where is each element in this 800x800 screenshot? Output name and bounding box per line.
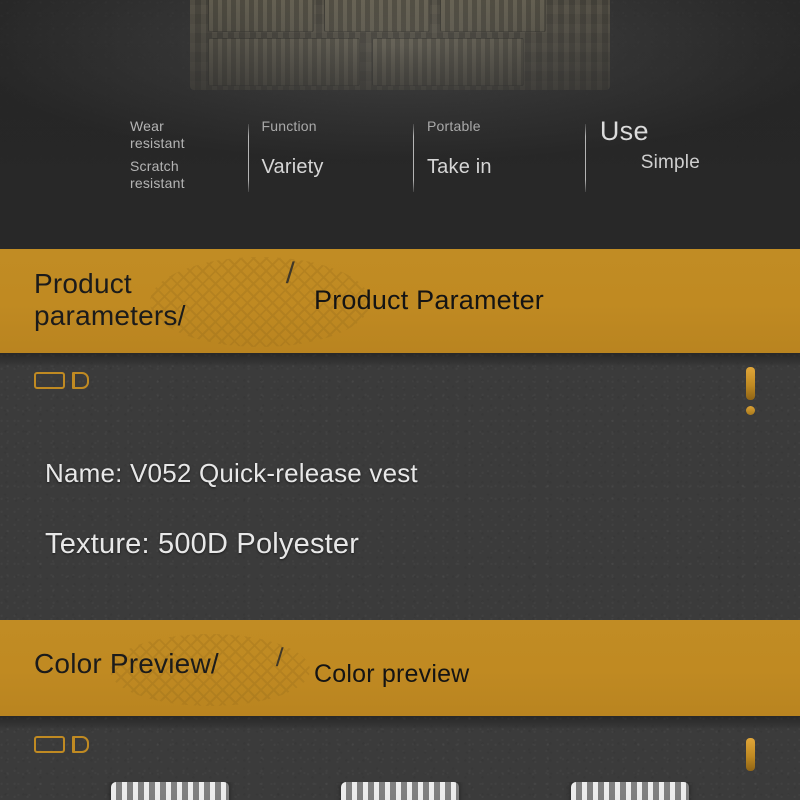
feature-label-big: Take in bbox=[427, 155, 554, 179]
feature-divider bbox=[413, 124, 414, 192]
banner-title-primary: Productparameters/ bbox=[34, 268, 186, 331]
feature-label-simple: Simple bbox=[641, 152, 700, 174]
exclamation-ornament-icon bbox=[746, 738, 755, 771]
hero-section: Wear resistant Scratch resistant Functio… bbox=[0, 0, 800, 249]
feature-strip: Wear resistant Scratch resistant Functio… bbox=[130, 118, 700, 208]
feature-divider bbox=[248, 124, 249, 192]
color-swatch[interactable] bbox=[341, 782, 459, 800]
exclamation-dot bbox=[746, 406, 755, 415]
bracket-ornament-icon bbox=[34, 372, 89, 389]
feature-label-line3: Scratch bbox=[130, 158, 223, 175]
feature-item-portable: Portable Take in bbox=[385, 118, 554, 179]
banner-title-secondary: Color preview bbox=[314, 660, 469, 689]
color-swatch-row bbox=[0, 782, 800, 800]
section-banner-color-preview: Color Preview/ / Color preview bbox=[0, 620, 800, 716]
bracket-dee bbox=[72, 372, 89, 389]
spec-product-name: Name: V052 Quick-release vest bbox=[45, 458, 418, 489]
feature-label-use: Use bbox=[600, 118, 649, 145]
banner-title-secondary: Product Parameter bbox=[314, 285, 544, 316]
bracket-bar bbox=[34, 736, 65, 753]
color-swatch[interactable] bbox=[111, 782, 229, 800]
feature-label-small: Function bbox=[261, 118, 385, 135]
feature-item-use-simple: Use Simple bbox=[554, 118, 700, 174]
feature-label-line4: resistant bbox=[130, 175, 223, 192]
bracket-ornament-icon bbox=[34, 736, 89, 753]
exclamation-stem bbox=[746, 367, 755, 400]
feature-item-wear-resistant: Wear resistant Scratch resistant bbox=[130, 118, 223, 192]
spec-product-texture: Texture: 500D Polyester bbox=[45, 528, 359, 561]
color-swatch[interactable] bbox=[571, 782, 689, 800]
panel-top-shadow bbox=[0, 353, 800, 367]
banner-slash: / bbox=[275, 642, 283, 673]
banner-slash: / bbox=[285, 257, 295, 291]
exclamation-ornament-icon bbox=[746, 367, 755, 415]
banner-title-primary: Color Preview/ bbox=[34, 648, 219, 680]
product-detail-page: Wear resistant Scratch resistant Functio… bbox=[0, 0, 800, 800]
bracket-dee bbox=[72, 736, 89, 753]
feature-label-line2: resistant bbox=[130, 135, 223, 152]
exclamation-stem bbox=[746, 738, 755, 771]
feature-label-line1: Wear bbox=[130, 118, 223, 135]
section-banner-product-parameters: Productparameters/ / Product Parameter bbox=[0, 249, 800, 353]
bracket-bar bbox=[34, 372, 65, 389]
panel-top-shadow bbox=[0, 716, 800, 730]
feature-divider bbox=[585, 124, 586, 192]
feature-label-small: Portable bbox=[427, 118, 554, 135]
feature-label-big: Variety bbox=[261, 155, 385, 179]
